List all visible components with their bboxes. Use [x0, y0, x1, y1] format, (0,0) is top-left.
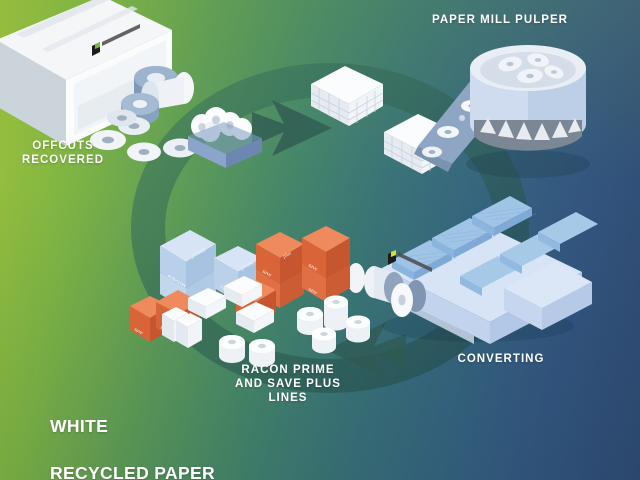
tissue-roll [324, 296, 348, 322]
tissue-pack [176, 313, 202, 348]
tissue-roll [312, 328, 336, 354]
title-line-2: RECYCLED PAPER [50, 462, 350, 480]
label-paper-mill-pulper: PAPER MILL PULPER [412, 13, 588, 27]
offcut-ring [107, 110, 137, 127]
label-offcuts-recovered: OFFCUTS RECOVERED [8, 139, 118, 167]
title-line-1: WHITE [50, 415, 350, 438]
tissue-roll [219, 335, 245, 363]
offcut-crate [180, 96, 270, 172]
paper-mill-pulper [418, 28, 593, 178]
label-converting: CONVERTING [440, 352, 562, 366]
page-title: WHITE RECYCLED PAPER PRODUCTION PROCESS [50, 392, 350, 480]
tissue-pack [188, 288, 226, 319]
tissue-packs-and-rolls [170, 280, 370, 370]
infographic-canvas: racon prime racon racon prime save plus [0, 0, 640, 480]
offcut-ring [127, 143, 161, 162]
converting-machine [358, 168, 593, 343]
